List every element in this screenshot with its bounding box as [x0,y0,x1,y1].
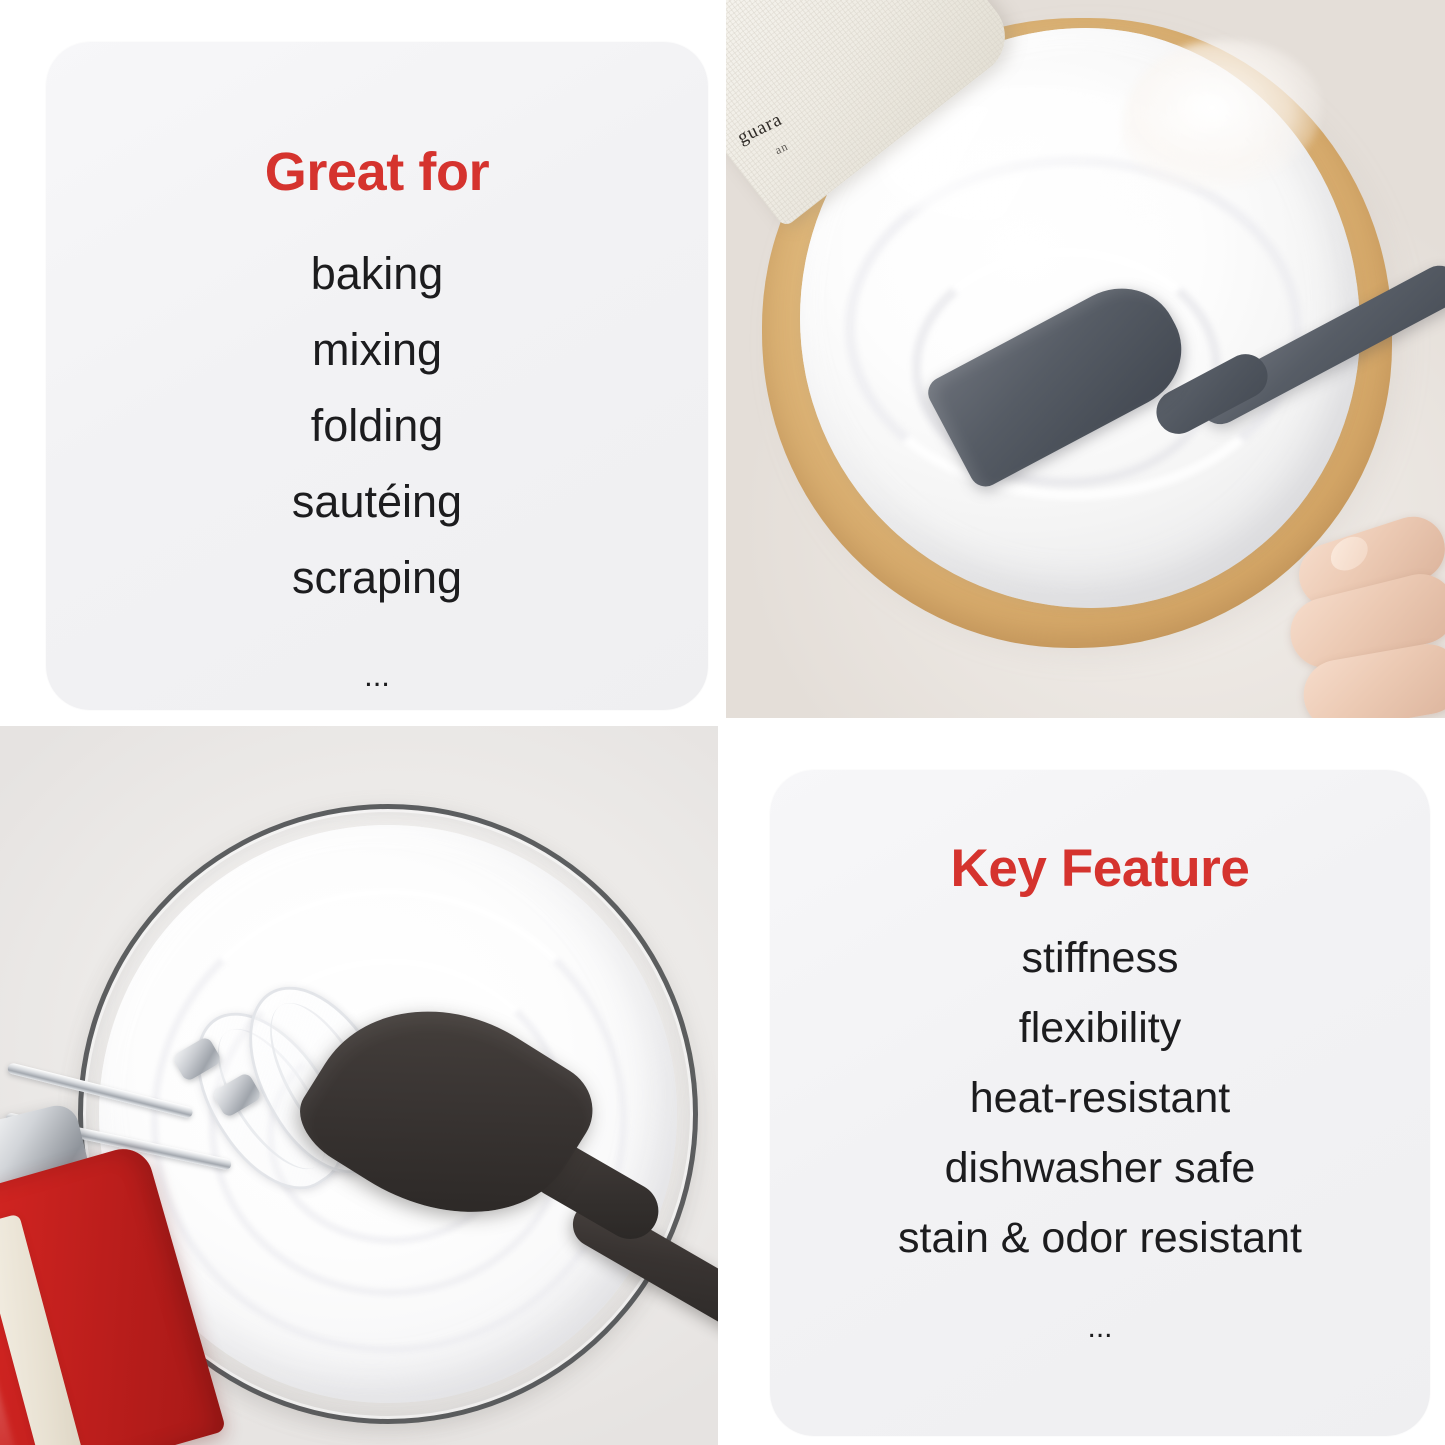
list-item: flexibility [1019,1007,1182,1050]
list-item: stiffness [1022,937,1179,980]
cake-photo: e guara an [722,0,1445,722]
panel-great-for: Great for baking mixing folding sautéing… [0,0,722,722]
great-for-heading: Great for [265,145,489,199]
great-for-card: Great for baking mixing folding sautéing… [46,42,708,710]
list-item: folding [311,403,444,448]
bowl-photo [0,722,722,1445]
list-item: sautéing [292,479,462,524]
cloth-text-small: an [772,139,791,158]
great-for-list: baking mixing folding sautéing scraping [46,251,708,631]
great-for-ellipsis: ... [364,660,390,691]
key-feature-list: stiffness flexibility heat-resistant dis… [770,937,1430,1287]
key-feature-heading: Key Feature [950,842,1249,895]
list-item: stain & odor resistant [898,1217,1302,1260]
list-item: heat-resistant [970,1077,1231,1120]
list-item: scraping [292,555,462,600]
mixer-stripe [0,1214,87,1445]
horizontal-divider [0,718,1445,726]
list-item: baking [311,251,444,296]
panel-key-feature: Key Feature stiffness flexibility heat-r… [722,722,1445,1445]
hand [1263,534,1445,722]
list-item: mixing [312,327,442,372]
panel-bowl-photo [0,722,722,1445]
panel-cake-photo: e guara an [722,0,1445,722]
product-infographic: Great for baking mixing folding sautéing… [0,0,1445,1445]
list-item: dishwasher safe [945,1147,1256,1190]
key-feature-ellipsis: ... [1087,1313,1112,1343]
fingernail [1324,530,1374,578]
key-feature-card: Key Feature stiffness flexibility heat-r… [770,770,1430,1436]
